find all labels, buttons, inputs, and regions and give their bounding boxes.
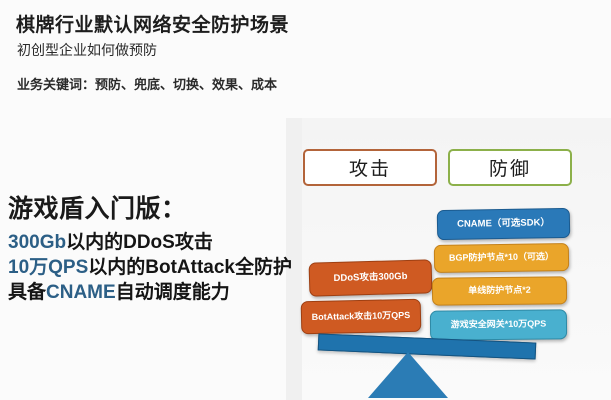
slide-canvas: 棋牌行业默认网络安全防护场景 初创型企业如何做预防 业务关键词：预防、兜底、切换… — [0, 0, 611, 400]
feature-bullet-ddos: 300Gb以内的DDoS攻击 — [8, 227, 213, 254]
feature-highlight-qps: 10万QPS — [8, 257, 88, 278]
feature-bullet-cname: 具备CNAME自动调度能力 — [8, 277, 230, 304]
page-subtitle: 初创型企业如何做预防 — [17, 40, 157, 60]
page-title: 棋牌行业默认网络安全防护场景 — [16, 10, 289, 37]
defend-plate-cname: CNAME（可选SDK） — [437, 208, 571, 240]
business-keywords: 业务关键词：预防、兜底、切换、效果、成本 — [17, 74, 277, 93]
attack-header-chip: 攻击 — [303, 149, 437, 186]
feature-highlight-cname: CNAME — [46, 282, 116, 303]
balance-fulcrum-icon — [368, 352, 448, 398]
defend-plate-game-gateway: 游戏安全网关*10万QPS — [430, 309, 567, 340]
feature-text-scheduling: 自动调度能力 — [116, 282, 230, 303]
feature-text-ddos: 以内的DDoS攻击 — [66, 232, 213, 253]
defend-header-chip: 防御 — [448, 149, 572, 186]
feature-text-botattack: 以内的BotAttack全防护 — [88, 257, 292, 278]
defend-plate-single-line-nodes: 单线防护节点*2 — [432, 276, 567, 305]
defend-plate-bgp-nodes: BGP防护节点*10（可选） — [434, 243, 569, 273]
feature-prefix-cname: 具备 — [8, 282, 46, 303]
feature-highlight-capacity: 300Gb — [8, 232, 66, 253]
attack-plate-botattack: BotAttack攻击10万QPS — [301, 299, 422, 335]
feature-bullet-qps: 10万QPS以内的BotAttack全防护 — [8, 252, 292, 279]
product-lead-title: 游戏盾入门版： — [8, 189, 187, 225]
attack-plate-ddos: DDoS攻击300Gb — [309, 259, 433, 296]
